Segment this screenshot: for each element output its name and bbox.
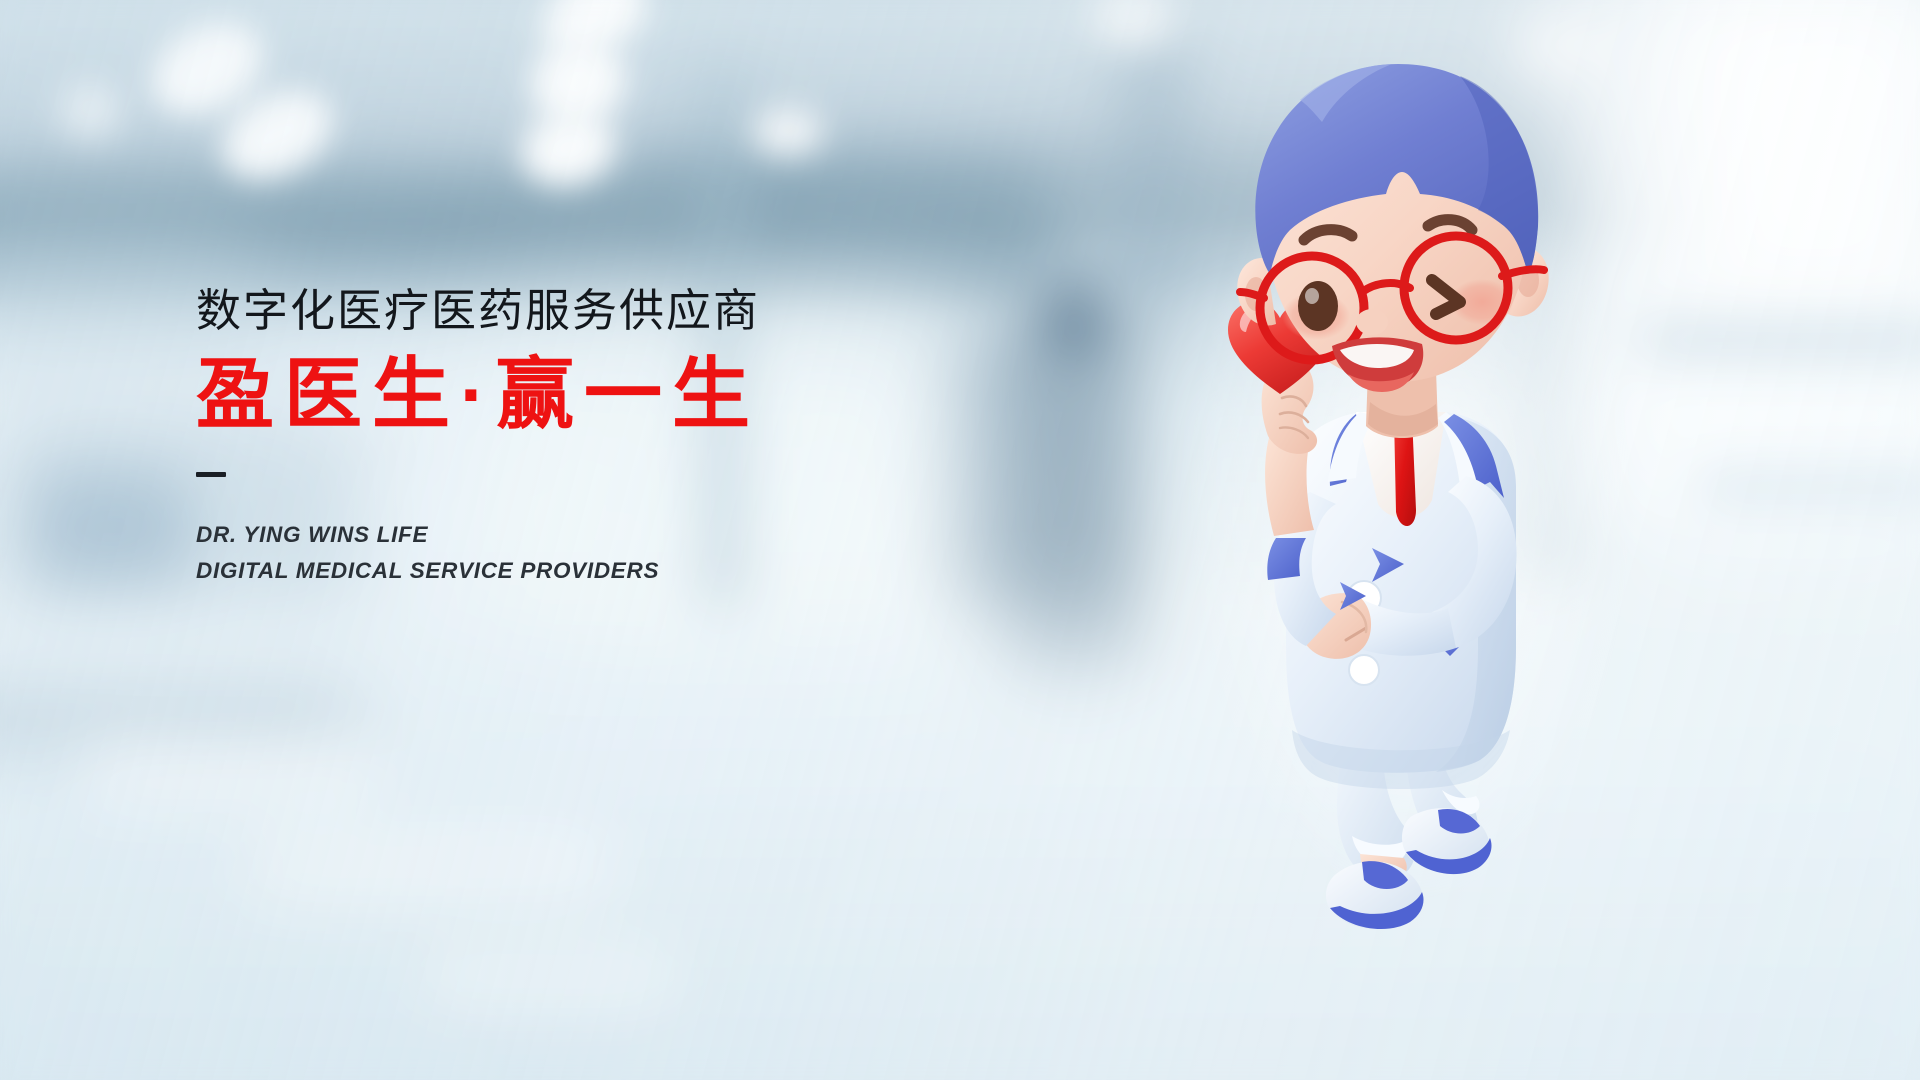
bg-person-head bbox=[1040, 280, 1110, 360]
page-title: 盈医生·赢一生 bbox=[196, 351, 956, 438]
subtitle-line-1: DR. YING WINS LIFE bbox=[196, 517, 956, 553]
subtitle-block: DR. YING WINS LIFE DIGITAL MEDICAL SERVI… bbox=[196, 517, 956, 590]
left-eye-highlight bbox=[1305, 288, 1319, 304]
bg-window-glow bbox=[1760, 56, 1890, 152]
bg-floor-reflection-2 bbox=[240, 830, 620, 900]
nose bbox=[1356, 309, 1388, 335]
hero-copy-block: 数字化医疗医药服务供应商 盈医生·赢一生 DR. YING WINS LIFE … bbox=[196, 287, 956, 590]
bg-right-shelf bbox=[1640, 320, 1920, 360]
bg-counter-shadow bbox=[30, 470, 190, 590]
kicker-text: 数字化医疗医药服务供应商 bbox=[196, 287, 956, 335]
bg-ceiling-light-6 bbox=[752, 108, 824, 156]
bg-ceiling-light-7 bbox=[60, 84, 120, 138]
subtitle-line-2: DIGITAL MEDICAL SERVICE PROVIDERS bbox=[196, 553, 956, 589]
divider-rule bbox=[196, 472, 226, 477]
hero-banner: 数字化医疗医药服务供应商 盈医生·赢一生 DR. YING WINS LIFE … bbox=[0, 0, 1920, 1080]
doctor-mascot bbox=[1160, 30, 1680, 1030]
left-eye bbox=[1298, 281, 1338, 331]
bg-floor-reflection-3 bbox=[420, 950, 680, 1006]
bg-right-shelf-lower bbox=[1700, 470, 1920, 504]
bg-floor-reflection-1 bbox=[80, 740, 380, 804]
